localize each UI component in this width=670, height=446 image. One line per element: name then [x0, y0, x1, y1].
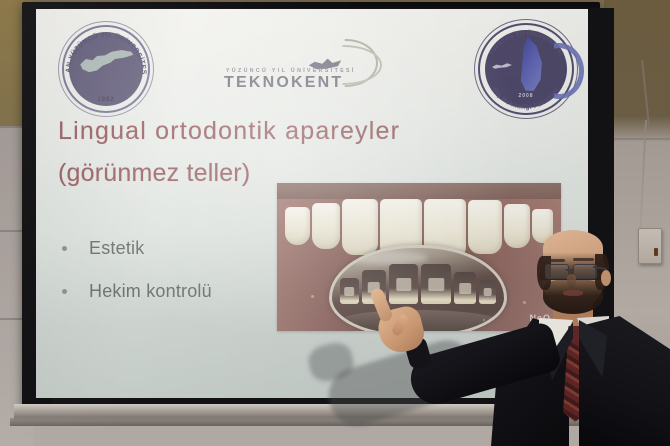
bullet-label: Hekim kontrolü: [89, 281, 212, 302]
glasses-lens-left: [545, 264, 569, 279]
photo-tooth: [285, 207, 310, 245]
dis-hekimligi-fakultesi-seal: Yüzüncü Yıl Üniversitesi Diş Hekimliği F…: [474, 19, 578, 119]
bullet-item-estetik: Estetik: [62, 238, 144, 259]
beard: [543, 280, 603, 314]
svg-text:VAN YÜZÜNCÜ YIL ÜNİVERSİTESİ: VAN YÜZÜNCÜ YIL ÜNİVERSİTESİ: [58, 21, 147, 75]
lingual-bracket-icon: [396, 278, 411, 292]
photo-speckle: [311, 295, 314, 298]
photo-speckle: [335, 311, 337, 313]
ear: [601, 270, 611, 286]
photo-tooth: [312, 203, 340, 249]
glasses-bridge: [566, 269, 574, 271]
photo-tooth: [342, 199, 378, 255]
presenter: [455, 228, 670, 446]
photo-upper-lip: [277, 183, 561, 199]
seal-year: 1982: [58, 97, 154, 103]
screenshot-root: VAN YÜZÜNCÜ YIL ÜNİVERSİTESİ 1982 YÜZÜNC…: [0, 0, 670, 446]
lingual-bracket-icon: [344, 287, 354, 296]
eyebrow-right: [573, 258, 594, 261]
van-yuzuncu-yil-universitesi-seal: VAN YÜZÜNCÜ YIL ÜNİVERSİTESİ 1982: [58, 21, 154, 117]
mouth: [563, 290, 583, 296]
bullet-dot-icon: [62, 246, 67, 251]
bullet-item-hekim-kontrolu: Hekim kontrolü: [62, 281, 212, 302]
bullet-dot-icon: [62, 289, 67, 294]
dseal-year: 2008: [474, 93, 578, 99]
lingual-bracket-icon: [428, 278, 443, 292]
eyebrow-left: [545, 259, 565, 262]
slide-title-line2: (görünmez teller): [58, 159, 250, 188]
slide-title-line1: Lingual ortodontik apareyler: [58, 117, 400, 146]
bullet-label: Estetik: [89, 238, 144, 259]
teknokent-wordmark: TEKNOKENT: [224, 74, 343, 92]
teknokent-logo: YÜZÜNCÜ YIL ÜNİVERSİTESİ TEKNOKENT: [222, 43, 392, 95]
